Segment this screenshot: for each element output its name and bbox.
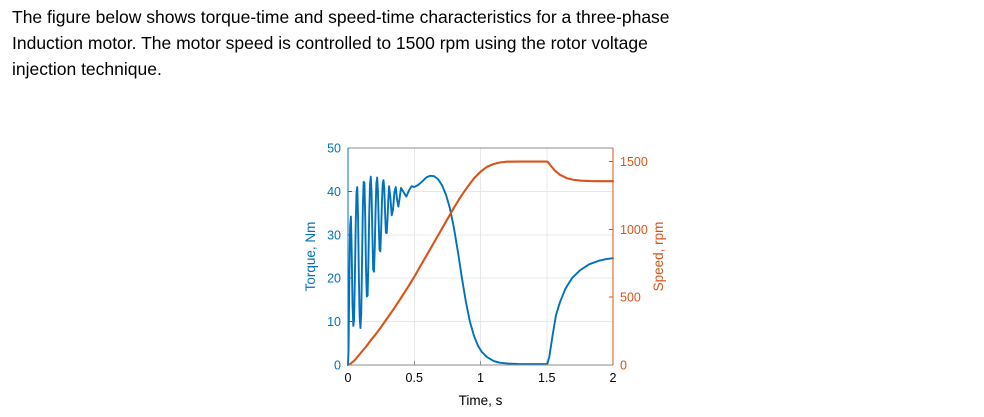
torque-speed-figure: 0102030405005001000150000.511.52Time, sT… [298,128,698,413]
tick-label-time: 0.5 [406,371,423,385]
tick-label-torque: 40 [327,185,341,199]
tick-label-torque: 10 [327,315,341,329]
tick-label-speed: 1000 [620,223,648,237]
tick-label-speed: 500 [620,291,641,305]
tick-label-time: 1 [477,371,484,385]
axis-title-y-right: Speed, rpm [651,222,666,292]
question-line-3: injection technique. [12,56,952,82]
chart-canvas: 0102030405005001000150000.511.52Time, sT… [298,128,698,413]
tick-label-speed: 0 [620,359,627,373]
question-line-2: Induction motor. The motor speed is cont… [12,30,952,56]
tick-label-time: 2 [610,371,617,385]
question-text: The figure below shows torque-time and s… [12,4,952,82]
tick-label-time: 1.5 [538,371,555,385]
tick-label-speed: 1500 [620,155,648,169]
tick-label-torque: 30 [327,228,341,242]
tick-label-time: 0 [345,371,352,385]
question-line-1: The figure below shows torque-time and s… [12,4,952,30]
axis-title-x: Time, s [459,393,503,408]
axis-title-y-left: Torque, Nm [303,222,318,292]
tick-label-torque: 50 [327,142,341,156]
tick-label-torque: 20 [327,272,341,286]
tick-label-torque: 0 [334,359,341,373]
